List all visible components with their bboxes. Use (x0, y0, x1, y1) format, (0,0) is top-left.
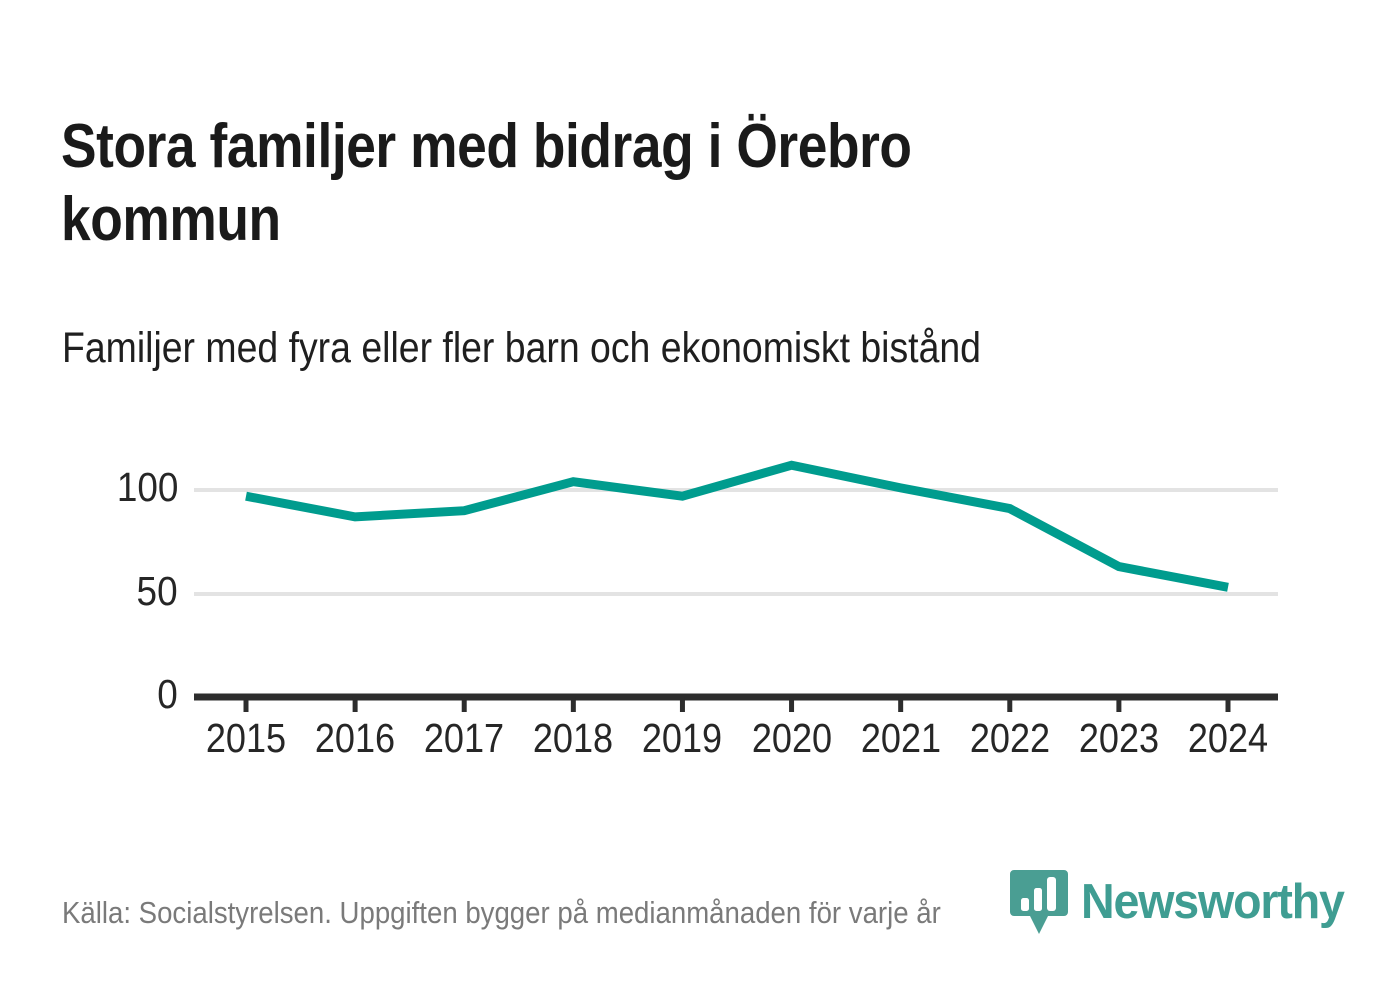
chart-page: Stora familjer med bidrag i Örebro kommu… (0, 0, 1382, 999)
x-axis-tick-label: 2017 (411, 715, 517, 762)
x-axis-tick-label: 2024 (1175, 715, 1281, 762)
x-axis-tick-label: 2020 (739, 715, 845, 762)
x-axis-tick-label: 2021 (848, 715, 954, 762)
newsworthy-logo[interactable]: Newsworthy (1008, 866, 1358, 938)
bar-chart-pin-icon (1008, 868, 1070, 936)
data-series-line (246, 465, 1228, 587)
y-axis-tick-label: 100 (116, 464, 178, 511)
x-axis-tick-label: 2015 (193, 715, 299, 762)
x-axis-tick-label: 2023 (1066, 715, 1172, 762)
newsworthy-wordmark: Newsworthy (1081, 878, 1344, 927)
x-axis-tick-label: 2019 (630, 715, 736, 762)
x-axis-tick-label: 2022 (957, 715, 1063, 762)
x-axis-tick-label: 2016 (302, 715, 408, 762)
line-chart: 050100 201520162017201820192020202120222… (0, 0, 1382, 999)
chart-canvas (0, 0, 1382, 999)
y-axis-tick-label: 50 (137, 568, 178, 615)
axis (194, 697, 1278, 712)
source-note: Källa: Socialstyrelsen. Uppgiften bygger… (62, 895, 941, 931)
gridlines (194, 490, 1278, 594)
y-axis-tick-label: 0 (157, 671, 178, 718)
x-axis-tick-label: 2018 (521, 715, 627, 762)
